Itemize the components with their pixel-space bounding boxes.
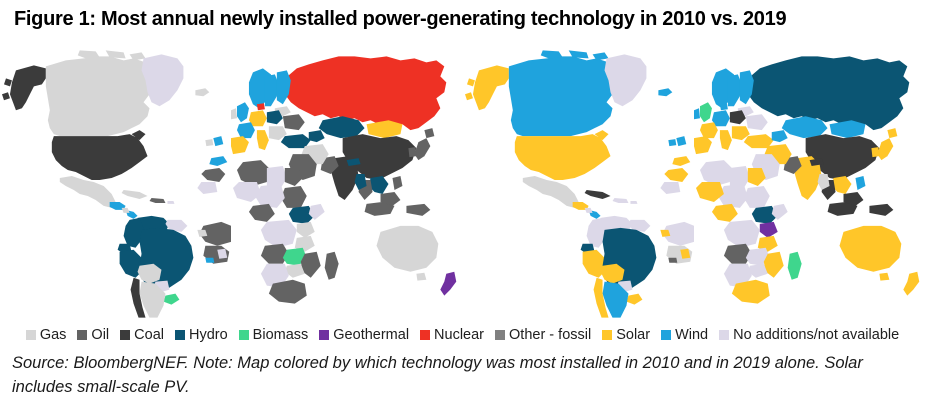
country-united-kingdom bbox=[237, 102, 249, 122]
country-spain-edge bbox=[672, 156, 690, 166]
map-svg-2010-americas bbox=[0, 50, 231, 318]
country-sweden bbox=[728, 74, 742, 106]
country-uruguay bbox=[626, 294, 642, 305]
country-tasmania bbox=[879, 273, 889, 281]
country-united-states bbox=[52, 130, 148, 180]
country-ireland-edge bbox=[668, 139, 676, 146]
country-canada bbox=[46, 56, 152, 136]
source-note: Source: BloombergNEF. Note: Map colored … bbox=[12, 352, 917, 400]
legend-item-coal[interactable]: Coal bbox=[120, 328, 164, 343]
country-philippines bbox=[855, 176, 865, 190]
country-western-sahara bbox=[197, 182, 217, 194]
country-japan-north bbox=[425, 128, 435, 138]
country-caucasus bbox=[309, 130, 325, 142]
country-drc bbox=[724, 220, 760, 248]
legend-label-gas: Gas bbox=[40, 328, 67, 343]
legend-label-solar: Solar bbox=[616, 328, 650, 343]
page-title: Figure 1: Most annual newly installed po… bbox=[14, 8, 914, 31]
country-nicaragua bbox=[584, 208, 592, 213]
legend-item-hydro[interactable]: Hydro bbox=[175, 328, 228, 343]
map-svg-2010-eurasia bbox=[231, 50, 462, 318]
landmasses-2010-americas bbox=[2, 50, 231, 317]
country-mexico bbox=[522, 176, 578, 208]
country-greenland bbox=[604, 54, 646, 106]
country-uk-edge bbox=[676, 136, 686, 146]
legend-swatch-other-fossil-icon bbox=[495, 330, 505, 340]
country-chad-niger bbox=[718, 184, 748, 208]
legend-item-oil[interactable]: Oil bbox=[77, 328, 109, 343]
country-guinea-wind bbox=[205, 258, 214, 263]
country-italy bbox=[257, 130, 269, 150]
country-mongolia bbox=[367, 120, 403, 138]
legend: Gas Oil Coal Hydro Biomass Geothermal Nu… bbox=[0, 322, 925, 348]
country-denmark bbox=[720, 103, 728, 110]
legend-item-wind[interactable]: Wind bbox=[661, 328, 708, 343]
legend-item-other-fossil[interactable]: Other - fossil bbox=[495, 328, 591, 343]
country-iceland bbox=[195, 88, 209, 96]
country-uruguay bbox=[163, 294, 179, 305]
country-new-zealand bbox=[441, 272, 457, 296]
country-alaska bbox=[2, 65, 46, 110]
country-spain-edge bbox=[209, 156, 227, 166]
country-cuba bbox=[122, 190, 148, 199]
country-korea bbox=[871, 147, 879, 157]
landmasses-2010-eurasia bbox=[231, 56, 456, 303]
legend-label-biomass: Biomass bbox=[253, 328, 309, 343]
country-cuba bbox=[584, 190, 610, 199]
country-ireland-edge bbox=[205, 139, 213, 146]
legend-item-geothermal[interactable]: Geothermal bbox=[319, 328, 409, 343]
country-canada bbox=[508, 56, 614, 136]
legend-swatch-coal-icon bbox=[120, 330, 130, 340]
country-iceland bbox=[658, 88, 672, 96]
country-italy bbox=[720, 130, 732, 150]
legend-item-biomass[interactable]: Biomass bbox=[239, 328, 309, 343]
legend-swatch-biomass-icon bbox=[239, 330, 249, 340]
country-russia bbox=[281, 56, 446, 130]
country-uk-edge bbox=[213, 136, 223, 146]
legend-item-gas[interactable]: Gas bbox=[26, 328, 67, 343]
country-sudan bbox=[281, 186, 307, 208]
country-angola bbox=[261, 244, 289, 264]
country-madagascar bbox=[787, 252, 801, 280]
country-greenland bbox=[142, 54, 184, 106]
legend-label-nuclear: Nuclear bbox=[434, 328, 484, 343]
country-nicaragua bbox=[122, 208, 130, 213]
legend-swatch-geothermal-icon bbox=[319, 330, 329, 340]
country-western-sahara bbox=[660, 182, 680, 194]
legend-item-no-additions[interactable]: No additions/not available bbox=[719, 328, 899, 343]
maps-row bbox=[0, 50, 925, 318]
country-ukraine bbox=[746, 114, 768, 130]
country-new-guinea bbox=[869, 204, 893, 216]
country-morocco bbox=[664, 168, 688, 182]
country-japan bbox=[415, 138, 431, 160]
country-ukraine bbox=[283, 114, 305, 130]
country-australia bbox=[839, 226, 901, 272]
map-svg-2019-americas bbox=[463, 50, 694, 318]
landmasses-2019-eurasia bbox=[694, 56, 919, 303]
country-hispaniola bbox=[612, 198, 628, 203]
legend-swatch-oil-icon bbox=[77, 330, 87, 340]
legend-label-no-additions: No additions/not available bbox=[733, 328, 899, 343]
map-svg-2019-eurasia bbox=[694, 50, 925, 318]
country-sudan bbox=[744, 186, 770, 208]
country-madagascar bbox=[325, 252, 339, 280]
legend-swatch-no-additions-icon bbox=[719, 330, 729, 340]
country-puerto-rico bbox=[630, 201, 637, 204]
legend-label-geothermal: Geothermal bbox=[333, 328, 409, 343]
country-new-guinea bbox=[407, 204, 431, 216]
country-united-states bbox=[514, 130, 610, 180]
country-spain bbox=[694, 136, 712, 154]
country-mali bbox=[233, 182, 261, 202]
country-new-zealand bbox=[903, 272, 919, 296]
map-panel-2010-eurasia[interactable] bbox=[231, 50, 462, 318]
country-spain bbox=[231, 136, 249, 154]
country-drc bbox=[261, 220, 297, 248]
legend-label-other-fossil: Other - fossil bbox=[509, 328, 591, 343]
country-korea bbox=[409, 147, 417, 157]
country-angola bbox=[724, 244, 752, 264]
legend-label-wind: Wind bbox=[675, 328, 708, 343]
legend-item-nuclear[interactable]: Nuclear bbox=[420, 328, 484, 343]
country-russia bbox=[744, 56, 909, 130]
map-panel-2019-eurasia[interactable] bbox=[694, 50, 925, 318]
country-sweden bbox=[265, 74, 279, 106]
legend-label-oil: Oil bbox=[91, 328, 109, 343]
figure-container: Figure 1: Most annual newly installed po… bbox=[0, 0, 925, 412]
country-philippines bbox=[393, 176, 403, 190]
country-kenya bbox=[297, 222, 315, 238]
country-caucasus bbox=[771, 130, 787, 142]
country-hispaniola bbox=[150, 198, 166, 203]
country-chad-niger bbox=[255, 184, 285, 208]
legend-swatch-hydro-icon bbox=[175, 330, 185, 340]
country-guinea bbox=[668, 258, 677, 263]
map-panel-2010-americas[interactable] bbox=[0, 50, 231, 318]
landmasses-2019-americas bbox=[464, 50, 693, 317]
legend-item-solar[interactable]: Solar bbox=[602, 328, 650, 343]
country-puerto-rico bbox=[167, 201, 174, 204]
country-mexico bbox=[60, 176, 116, 208]
country-australia bbox=[377, 226, 439, 272]
country-kenya bbox=[760, 222, 778, 238]
country-morocco bbox=[201, 168, 225, 182]
country-alaska bbox=[464, 65, 508, 110]
map-panel-2019-americas[interactable] bbox=[463, 50, 694, 318]
country-japan bbox=[877, 138, 893, 160]
country-denmark bbox=[257, 103, 265, 110]
legend-swatch-wind-icon bbox=[661, 330, 671, 340]
country-tasmania bbox=[417, 273, 427, 281]
country-japan-north bbox=[887, 128, 897, 138]
legend-label-hydro: Hydro bbox=[189, 328, 228, 343]
legend-label-coal: Coal bbox=[134, 328, 164, 343]
legend-swatch-gas-icon bbox=[26, 330, 36, 340]
country-ireland bbox=[231, 108, 237, 119]
country-mongolia bbox=[829, 120, 865, 138]
legend-swatch-nuclear-icon bbox=[420, 330, 430, 340]
country-united-kingdom bbox=[700, 102, 712, 122]
country-ireland bbox=[694, 108, 700, 119]
legend-swatch-solar-icon bbox=[602, 330, 612, 340]
